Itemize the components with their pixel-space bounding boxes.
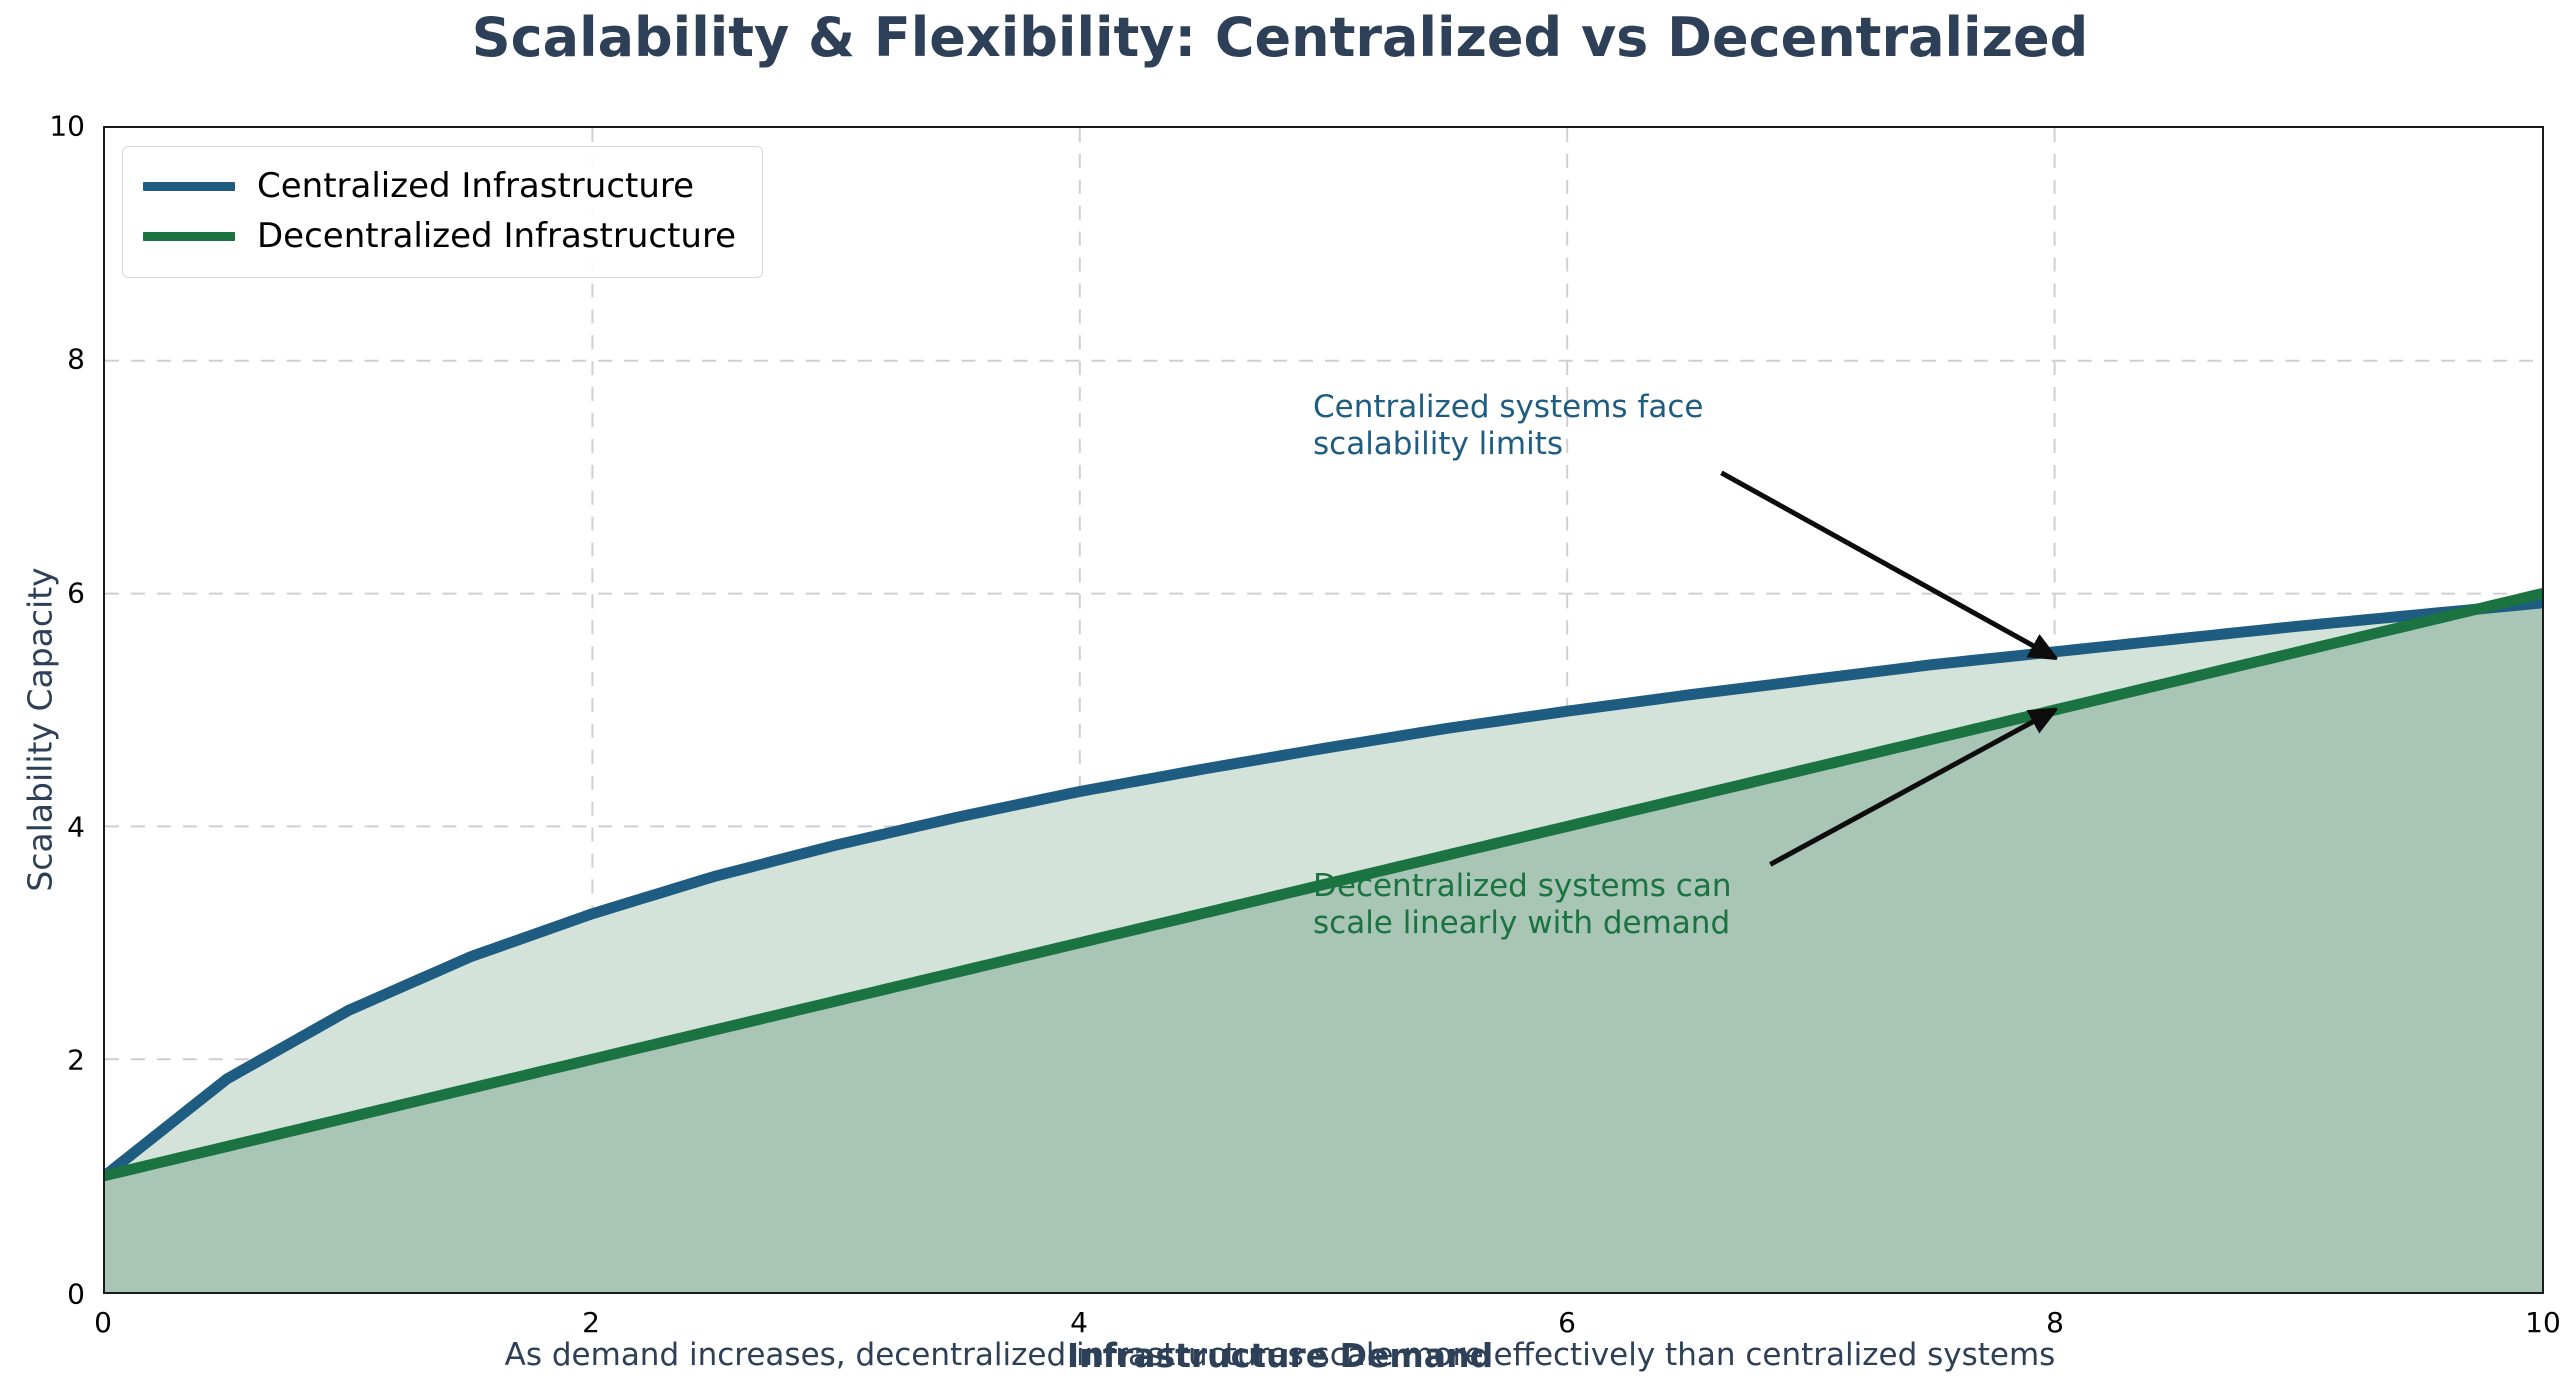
chart-legend[interactable]: Centralized Infrastructure Decentralized… (122, 146, 763, 278)
y-tick-label-2: 2 (10, 1044, 85, 1077)
x-tick-label-6: 6 (1507, 1306, 1627, 1339)
annotation-decentralized-text: Decentralized systems can scale linearly… (1313, 868, 1731, 941)
legend-item-centralized[interactable]: Centralized Infrastructure (143, 161, 736, 211)
legend-label-decentralized: Decentralized Infrastructure (257, 216, 736, 256)
x-tick-label-8: 8 (1995, 1306, 2115, 1339)
y-tick-label-10: 10 (10, 110, 85, 143)
legend-item-decentralized[interactable]: Decentralized Infrastructure (143, 211, 736, 261)
legend-swatch-decentralized (143, 232, 235, 241)
x-tick-label-2: 2 (531, 1306, 651, 1339)
x-axis-label: Infrastructure Demand (0, 1336, 2560, 1375)
legend-label-centralized: Centralized Infrastructure (257, 166, 694, 206)
x-tick-label-10: 10 (2483, 1306, 2560, 1339)
chart-title: Scalability & Flexibility: Centralized v… (0, 6, 2560, 69)
x-tick-label-0: 0 (43, 1306, 163, 1339)
annotation-centralized-text: Centralized systems face scalability lim… (1313, 389, 1703, 462)
plot-canvas (105, 128, 2542, 1292)
area-fills (105, 594, 2542, 1292)
legend-swatch-centralized (143, 182, 235, 191)
y-tick-label-8: 8 (10, 343, 85, 376)
chart-figure: Scalability & Flexibility: Centralized v… (0, 0, 2560, 1386)
y-axis-label: Scalability Capacity (21, 430, 60, 1030)
x-tick-label-4: 4 (1019, 1306, 1139, 1339)
plot-area (103, 126, 2544, 1294)
